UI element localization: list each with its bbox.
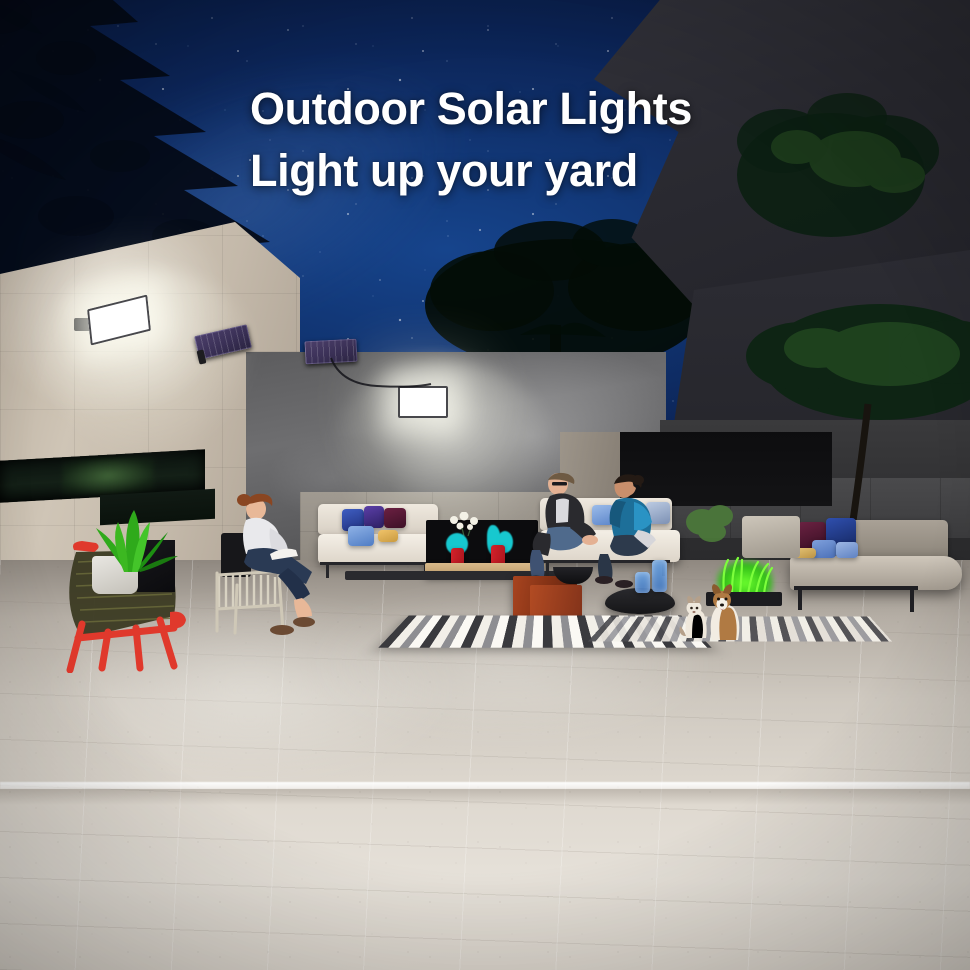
chaise-seat [790, 556, 962, 590]
chaise-frame-rail [794, 586, 918, 590]
cushion-maroon [384, 508, 406, 528]
patio-step-edge [0, 782, 970, 789]
product-banner: Outdoor Solar Lights Light up your yard [0, 0, 970, 970]
cushion-purple [364, 506, 384, 528]
chaise-leg [798, 588, 802, 610]
headline-line-2: Light up your yard [250, 140, 790, 202]
solar-cable-center [328, 356, 433, 392]
far-sofa-right [742, 516, 800, 558]
blue-glass-vase-short [635, 572, 650, 593]
headline-block: Outdoor Solar Lights Light up your yard [250, 78, 790, 202]
cushion-light-blue [348, 526, 374, 546]
chaise-cushion-light-blue [836, 542, 858, 558]
patio-step-shadow [0, 789, 970, 805]
potted-plant-leaves [86, 506, 182, 576]
right-foliage [686, 500, 738, 544]
cushion-mustard [378, 530, 398, 542]
blue-glass-vase-tall [652, 560, 667, 592]
cat [678, 594, 712, 640]
sofa-frame-rail [320, 562, 432, 565]
headline-line-1: Outdoor Solar Lights [250, 78, 790, 140]
person-reading [226, 492, 318, 640]
chaise-leg [910, 588, 914, 612]
sofa-leg [326, 564, 329, 578]
